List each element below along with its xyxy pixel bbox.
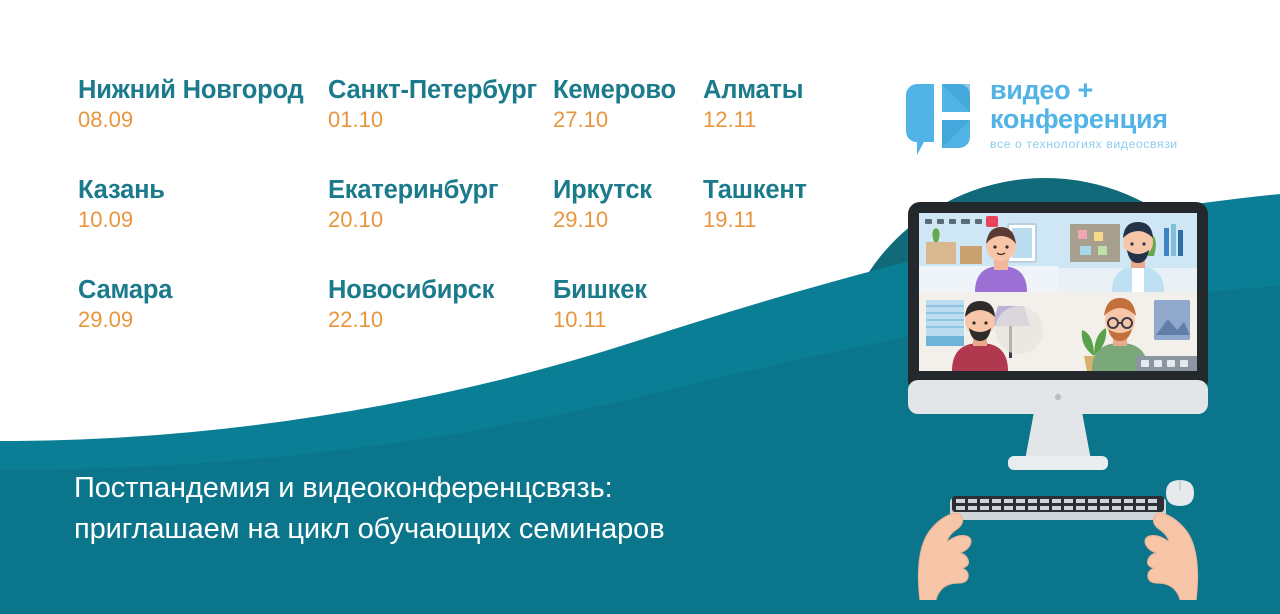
participant-bottom-right: [1058, 292, 1197, 371]
city-date: 08.09: [78, 104, 328, 136]
city-date: 20.10: [328, 204, 553, 236]
city-name: Алматы: [703, 76, 878, 104]
city-date: 29.09: [78, 304, 328, 336]
schedule-row: Казань 10.09 Екатеринбург 20.10 Иркутск …: [78, 176, 878, 276]
logo-line-2: конференция: [990, 105, 1200, 134]
headline: Постпандемия и видеоконференцсвязь: приг…: [74, 468, 854, 550]
brand-logo[interactable]: видео + конференция все о технологиях ви…: [898, 78, 1198, 164]
schedule-cell[interactable]: Иркутск 29.10: [553, 176, 703, 276]
city-date: 27.10: [553, 104, 703, 136]
schedule-row: Нижний Новгород 08.09 Санкт-Петербург 01…: [78, 76, 878, 176]
logo-line-1: видео +: [990, 76, 1200, 105]
schedule-row: Самара 29.09 Новосибирск 22.10 Бишкек 10…: [78, 276, 878, 376]
city-name: Бишкек: [553, 276, 703, 304]
participant-top-right: [1058, 213, 1197, 292]
city-name: Новосибирск: [328, 276, 553, 304]
city-date: 01.10: [328, 104, 553, 136]
monitor: [908, 202, 1208, 470]
seminar-schedule: Нижний Новгород 08.09 Санкт-Петербург 01…: [78, 76, 878, 376]
participant-bottom-left: [919, 292, 1058, 371]
schedule-cell[interactable]: Кемерово 27.10: [553, 76, 703, 176]
city-date: 12.11: [703, 104, 878, 136]
logo-wordmark: видео + конференция все о технологиях ви…: [990, 76, 1200, 151]
city-date: 10.09: [78, 204, 328, 236]
city-date: 10.11: [553, 304, 703, 336]
schedule-cell[interactable]: Екатеринбург 20.10: [328, 176, 553, 276]
logo-tagline: все о технологиях видеосвязи: [990, 137, 1200, 151]
schedule-cell[interactable]: Самара 29.09: [78, 276, 328, 376]
speech-bubble-logo-mark: [898, 80, 980, 162]
participant-top-left: [919, 213, 1058, 292]
city-name: Кемерово: [553, 76, 703, 104]
city-date: 22.10: [328, 304, 553, 336]
city-name: Санкт-Петербург: [328, 76, 553, 104]
city-name: Нижний Новгород: [78, 76, 328, 104]
schedule-cell[interactable]: Бишкек 10.11: [553, 276, 703, 376]
poster-canvas: Нижний Новгород 08.09 Санкт-Петербург 01…: [0, 0, 1280, 614]
city-name: Самара: [78, 276, 328, 304]
schedule-cell[interactable]: Новосибирск 22.10: [328, 276, 553, 376]
computer-mouse: [1166, 480, 1194, 506]
city-name: Иркутск: [553, 176, 703, 204]
hands-typing: [919, 513, 1198, 600]
schedule-cell[interactable]: Алматы 12.11: [703, 76, 878, 176]
headline-line-1: Постпандемия и видеоконференцсвязь:: [74, 468, 854, 509]
headline-line-2: приглашаем на цикл обучающих семинаров: [74, 509, 854, 550]
schedule-cell[interactable]: Нижний Новгород 08.09: [78, 76, 328, 176]
schedule-cell[interactable]: Санкт-Петербург 01.10: [328, 76, 553, 176]
city-name: Казань: [78, 176, 328, 204]
city-name: Екатеринбург: [328, 176, 553, 204]
keyboard: [950, 496, 1166, 520]
video-conference-desktop-illustration: [848, 180, 1268, 600]
schedule-cell[interactable]: Казань 10.09: [78, 176, 328, 276]
city-date: 29.10: [553, 204, 703, 236]
